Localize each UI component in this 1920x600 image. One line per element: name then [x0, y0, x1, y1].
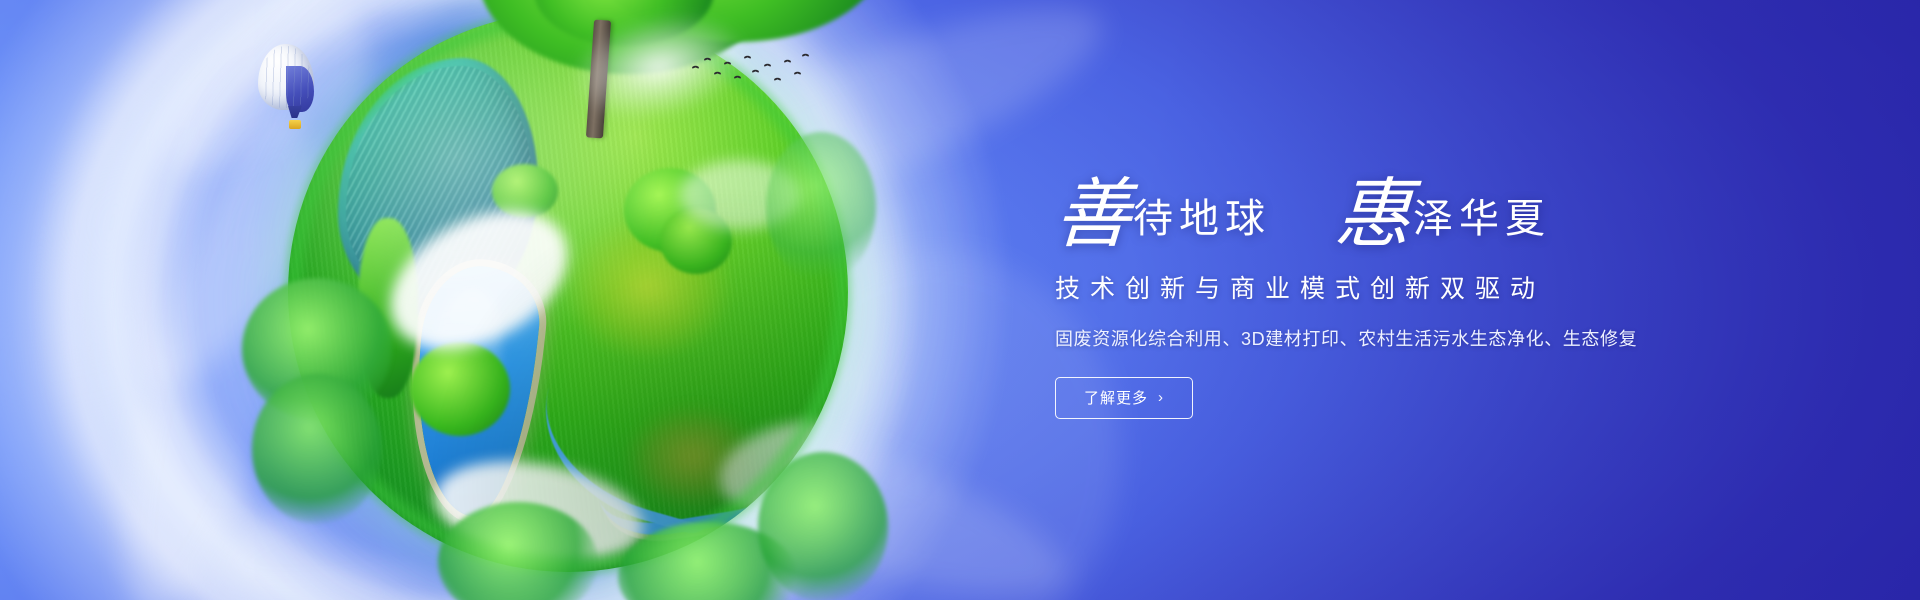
rim-tree [758, 452, 888, 600]
bird-icon [724, 62, 730, 66]
bird-icon [752, 70, 758, 74]
bird-icon [692, 66, 698, 70]
bird-icon [764, 64, 770, 68]
learn-more-label: 了解更多 [1084, 387, 1148, 408]
bird-icon [802, 54, 808, 58]
description: 固废资源化综合利用、3D建材打印、农村生活污水生态净化、生态修复 [1055, 325, 1815, 351]
headline-small-text-2: 泽华夏 [1413, 199, 1551, 239]
rim-tree [252, 374, 382, 524]
headline-phrase-1: 善 待地球 [1055, 181, 1271, 251]
bird-icon [744, 56, 750, 60]
balloon-neck [288, 106, 302, 118]
headline-big-char-1: 善 [1053, 181, 1133, 251]
hero-banner: 善 待地球 惠 泽华夏 技术创新与商业模式创新双驱动 固废资源化综合利用、3D建… [0, 0, 1920, 600]
banner-content: 善 待地球 惠 泽华夏 技术创新与商业模式创新双驱动 固废资源化综合利用、3D建… [1055, 0, 1815, 600]
birds-flock-icon [690, 52, 810, 96]
headline-small-text-1: 待地球 [1133, 199, 1271, 239]
chevron-right-icon: › [1158, 390, 1164, 405]
balloon-basket [289, 120, 301, 129]
bird-icon [794, 72, 800, 76]
learn-more-button[interactable]: 了解更多 › [1055, 377, 1193, 419]
headline-phrase-2: 惠 泽华夏 [1335, 181, 1551, 251]
bird-icon [784, 60, 790, 64]
headline-big-char-2: 惠 [1333, 181, 1413, 251]
subtitle: 技术创新与商业模式创新双驱动 [1055, 269, 1815, 305]
hot-air-balloon-icon [258, 44, 314, 136]
bird-icon [704, 58, 710, 62]
bird-icon [714, 72, 720, 76]
bird-icon [734, 76, 740, 80]
rim-tree [766, 132, 876, 282]
bird-icon [774, 78, 780, 82]
headline: 善 待地球 惠 泽华夏 [1055, 181, 1815, 251]
